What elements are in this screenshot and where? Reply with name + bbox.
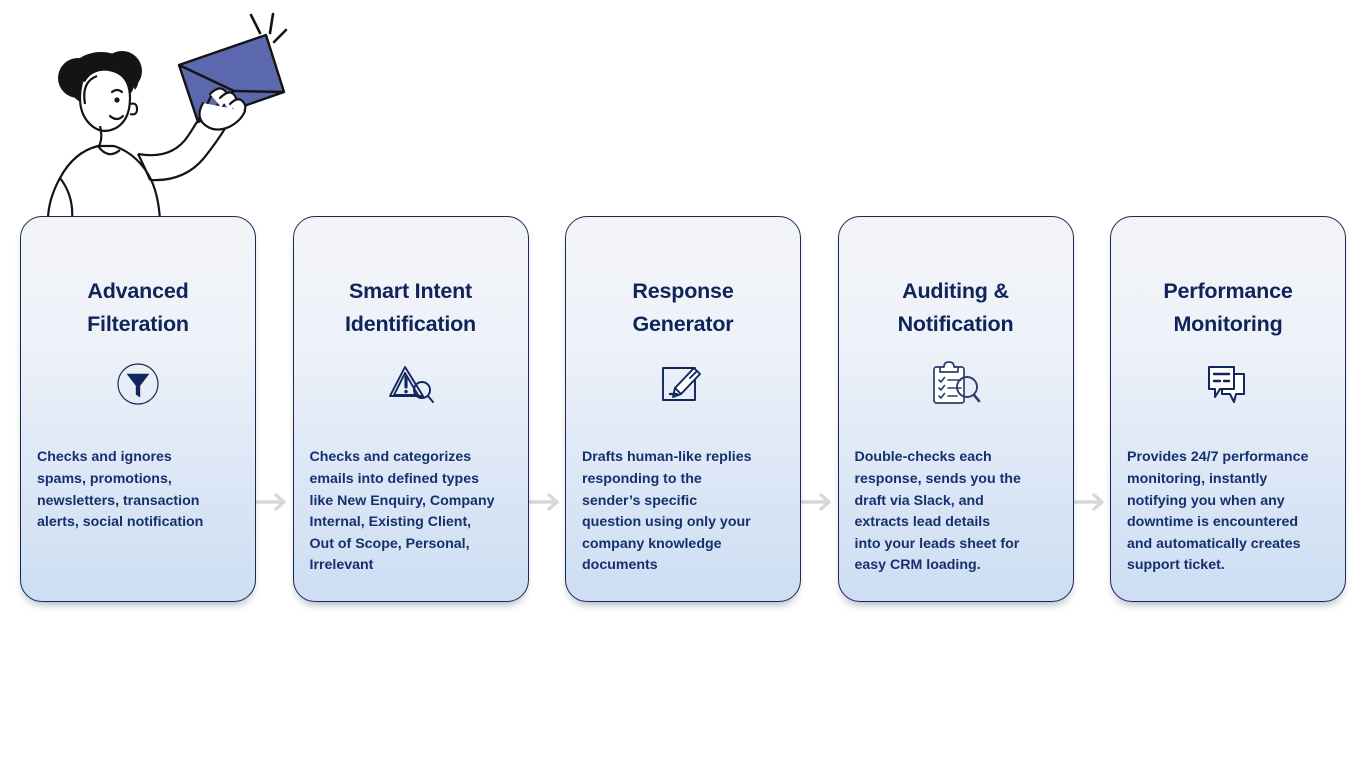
arrow-right-icon <box>256 216 293 602</box>
process-flow-row: Advanced Filteration Checks and ignores … <box>20 216 1346 602</box>
arrow-right-icon <box>1074 216 1111 602</box>
woman-holding-envelope-illustration <box>38 8 306 220</box>
chat-bubbles-icon <box>1204 357 1252 411</box>
flow-card-response-generator[interactable]: Response Generator Drafts human-like rep… <box>565 216 801 602</box>
flow-card-title: Performance Monitoring <box>1163 275 1292 340</box>
flow-card-description: Double-checks each response, sends you t… <box>855 447 1057 576</box>
flow-card-performance-monitoring[interactable]: Performance Monitoring Provides 24/7 per… <box>1110 216 1346 602</box>
flow-card-title: Response Generator <box>632 275 733 340</box>
flow-card-description: Provides 24/7 performance monitoring, in… <box>1127 447 1329 576</box>
flow-card-title: Advanced Filteration <box>87 275 189 340</box>
clipboard-magnifier-icon <box>929 357 983 411</box>
alert-triangle-magnifier-icon <box>386 357 436 411</box>
flow-card-title: Auditing & Notification <box>898 275 1014 340</box>
arrow-right-icon <box>801 216 838 602</box>
funnel-filter-icon <box>115 357 161 411</box>
flow-card-title: Smart Intent Identification <box>345 275 476 340</box>
flow-card-description: Drafts human-like replies responding to … <box>582 447 784 576</box>
flow-card-description: Checks and categorizes emails into defin… <box>310 447 512 576</box>
arrow-right-icon <box>529 216 566 602</box>
flow-card-description: Checks and ignores spams, promotions, ne… <box>37 447 239 533</box>
diagram-canvas: Advanced Filteration Checks and ignores … <box>0 0 1366 768</box>
flow-card-advanced-filteration[interactable]: Advanced Filteration Checks and ignores … <box>20 216 256 602</box>
flow-card-smart-intent-identification[interactable]: Smart Intent Identification Checks and c… <box>293 216 529 602</box>
flow-card-auditing-notification[interactable]: Auditing & Notification <box>838 216 1074 602</box>
note-pencil-icon <box>658 357 708 411</box>
